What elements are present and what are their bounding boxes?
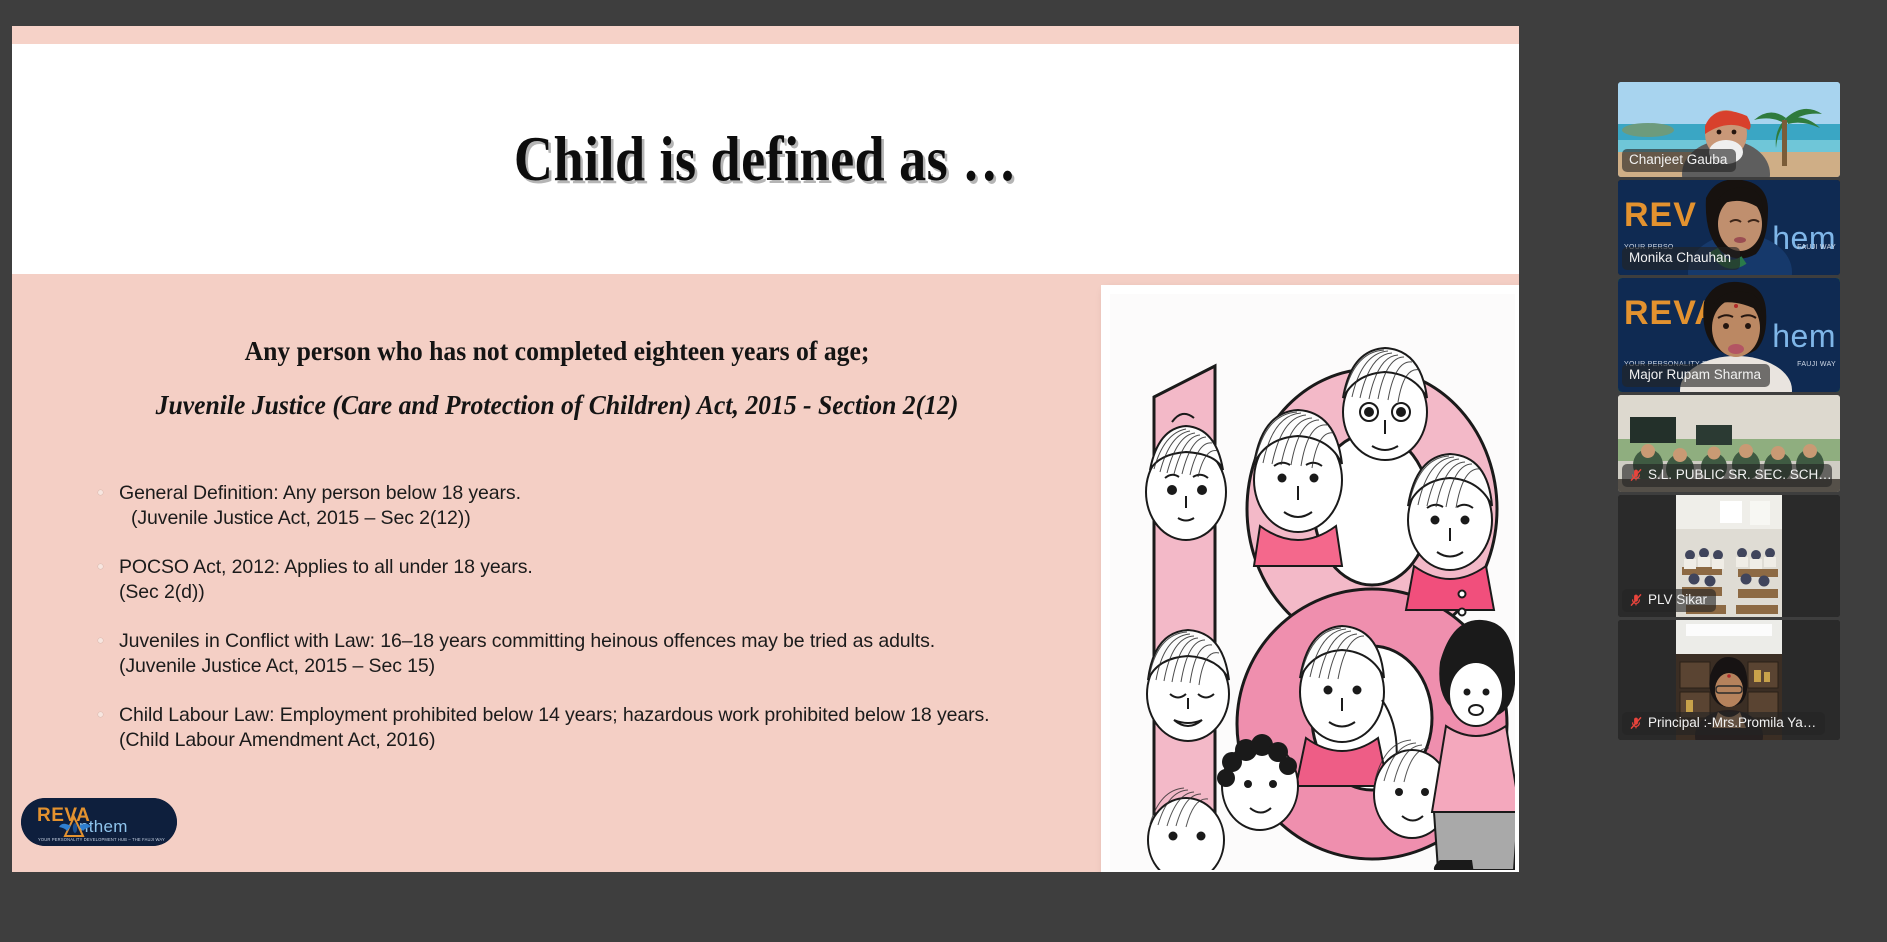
participant-name-badge: PLV Sikar [1622,589,1716,612]
bullet-text: POCSO Act, 2012: Applies to all under 18… [119,555,1084,580]
participant-name: PLV Sikar [1648,591,1707,609]
bullet-dot-icon [98,712,103,717]
participant-tile-chanjeet-gauba[interactable]: Chanjeet Gauba [1618,82,1840,177]
bullet-dot-icon [98,564,103,569]
participant-name: Major Rupam Sharma [1629,366,1761,384]
participant-filmstrip[interactable]: Chanjeet Gauba REV hem YOUR PERSOFAUJI W… [1618,82,1840,743]
participant-name: Principal :-Mrs.Promila Ya… [1648,714,1816,732]
participant-name: Chanjeet Gauba [1629,151,1727,169]
list-item: POCSO Act, 2012: Applies to all under 18… [94,555,1084,605]
participant-name-badge: S.L. PUBLIC SR. SEC. SCH… [1622,464,1832,487]
participant-tile-major-rupam-sharma[interactable]: REVA hem YOUR PERSONALITY DEVFAUJI WAY [1618,278,1840,392]
slide-illustration-frame [1101,285,1519,872]
list-item: General Definition: Any person below 18 … [94,481,1084,531]
reva-anthem-logo-icon: REVA nthem YOUR PERSONALITY DEVELOPMENT … [21,798,177,846]
bullet-dot-icon [98,490,103,495]
microphone-muted-icon [1629,593,1643,607]
shared-slide[interactable]: Child is defined as … Any person who has… [12,26,1519,872]
bullet-citation: (Sec 2(d)) [119,580,1084,605]
letterbox-right [1782,495,1840,617]
participant-name-badge: Principal :-Mrs.Promila Ya… [1622,712,1825,735]
participant-name: Monika Chauhan [1629,249,1731,267]
slide-title-bar: Child is defined as … [12,44,1519,274]
children-eighteen-illustration-icon [1110,294,1515,870]
participant-tile-monika-chauhan[interactable]: REV hem YOUR PERSOFAUJI WAY Monika Chauh… [1618,180,1840,275]
bullet-text: Child Labour Law: Employment prohibited … [119,703,1084,728]
slide-body: Any person who has not completed eightee… [12,274,1519,872]
bullet-citation: (Juvenile Justice Act, 2015 – Sec 15) [119,654,1084,679]
slide-top-accent-band [12,26,1519,44]
list-item: Juveniles in Conflict with Law: 16–18 ye… [94,629,1084,679]
slide-illustration [1110,294,1515,870]
slide-bullet-list: General Definition: Any person below 18 … [94,481,1084,777]
bullet-text: Juveniles in Conflict with Law: 16–18 ye… [119,629,1084,654]
meeting-screen-share-view: Child is defined as … Any person who has… [0,0,1887,942]
microphone-muted-icon [1629,468,1643,482]
participant-name-badge: Chanjeet Gauba [1622,149,1736,172]
list-item: Child Labour Law: Employment prohibited … [94,703,1084,753]
bullet-text: General Definition: Any person below 18 … [119,481,1084,506]
slide-title: Child is defined as … [514,123,1017,196]
bullet-citation: (Child Labour Amendment Act, 2016) [119,728,1084,753]
slide-headline-primary: Any person who has not completed eightee… [39,336,1075,367]
svg-text:YOUR PERSONALITY DEVELOPMENT H: YOUR PERSONALITY DEVELOPMENT HUB – THE F… [38,837,165,842]
participant-tile-sl-public-school[interactable]: S.L. PUBLIC SR. SEC. SCH… [1618,395,1840,492]
slide-headline-citation: Juvenile Justice (Care and Protection of… [39,390,1075,421]
participant-tile-plv-sikar[interactable]: PLV Sikar [1618,495,1840,617]
participant-name-badge: Monika Chauhan [1622,247,1740,270]
reva-anthem-logo: REVA nthem YOUR PERSONALITY DEVELOPMENT … [21,798,177,846]
microphone-muted-icon [1629,716,1643,730]
bullet-dot-icon [98,638,103,643]
bullet-citation: (Juvenile Justice Act, 2015 – Sec 2(12)) [119,506,1084,531]
participant-name: S.L. PUBLIC SR. SEC. SCH… [1648,466,1832,484]
participant-tile-principal-promila[interactable]: Principal :-Mrs.Promila Ya… [1618,620,1840,740]
participant-name-badge: Major Rupam Sharma [1622,364,1770,387]
